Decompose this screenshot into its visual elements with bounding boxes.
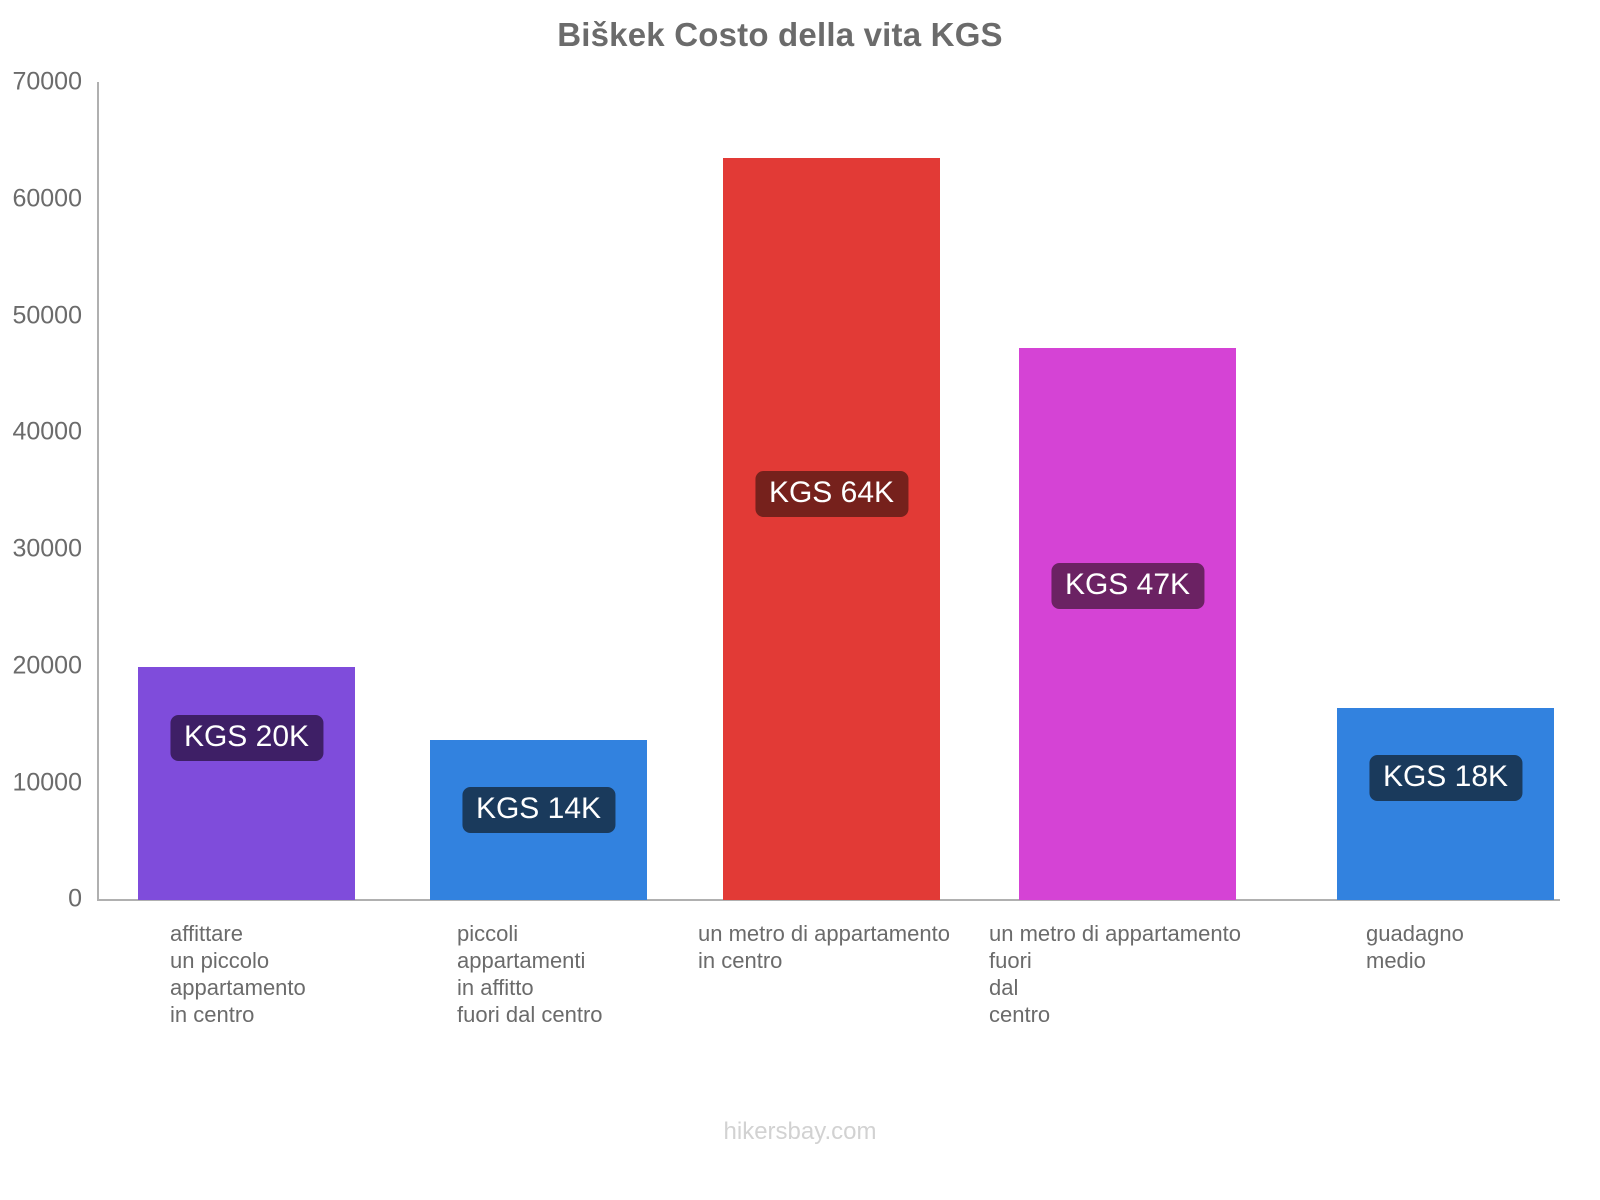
bar-affittare-un-piccolo-appartamento-in-centro[interactable]: KGS 20K (138, 667, 355, 900)
bar-piccoli-appartamenti-in-affitto-fuori-dal-centro[interactable]: KGS 14K (430, 740, 647, 900)
bar-value-label-5: KGS 18K (1369, 755, 1522, 801)
y-axis-tick-50000: 50000 (0, 302, 82, 331)
x-axis-category-label-3: un metro di appartamento in centro (698, 920, 950, 974)
bar-value-label-3: KGS 64K (755, 471, 908, 517)
bar-un-metro-di-appartamento-fuori-dal-centro[interactable]: KGS 47K (1019, 348, 1236, 900)
y-axis-tick-40000: 40000 (0, 418, 82, 447)
x-axis-category-label-2: piccoli appartamenti in affitto fuori da… (457, 920, 603, 1028)
bar-value-label-2: KGS 14K (462, 787, 615, 833)
x-axis-category-label-5: guadagno medio (1366, 920, 1464, 974)
y-axis-tick-30000: 30000 (0, 535, 82, 564)
bar-guadagno-medio[interactable]: KGS 18K (1337, 708, 1554, 900)
bar-un-metro-di-appartamento-in-centro[interactable]: KGS 64K (723, 158, 940, 900)
chart-title: Biškek Costo della vita KGS (0, 16, 1560, 54)
x-axis-category-label-4: un metro di appartamento fuori dal centr… (989, 920, 1241, 1028)
bar-value-label-1: KGS 20K (170, 715, 323, 761)
bar-value-label-4: KGS 47K (1051, 563, 1204, 609)
y-axis-tick-20000: 20000 (0, 652, 82, 681)
y-axis-tick-0: 0 (0, 885, 82, 914)
y-axis-tick-60000: 60000 (0, 185, 82, 214)
y-axis-tick-70000: 70000 (0, 68, 82, 97)
bar-chart: Biškek Costo della vita KGS 70000 60000 … (0, 0, 1600, 1200)
source-watermark: hikersbay.com (0, 1118, 1600, 1146)
y-axis-tick-10000: 10000 (0, 769, 82, 798)
x-axis-category-label-1: affittare un piccolo appartamento in cen… (170, 920, 306, 1028)
plot-area: KGS 20K KGS 14K KGS 64K KGS 47K KGS 18K (97, 82, 1560, 900)
